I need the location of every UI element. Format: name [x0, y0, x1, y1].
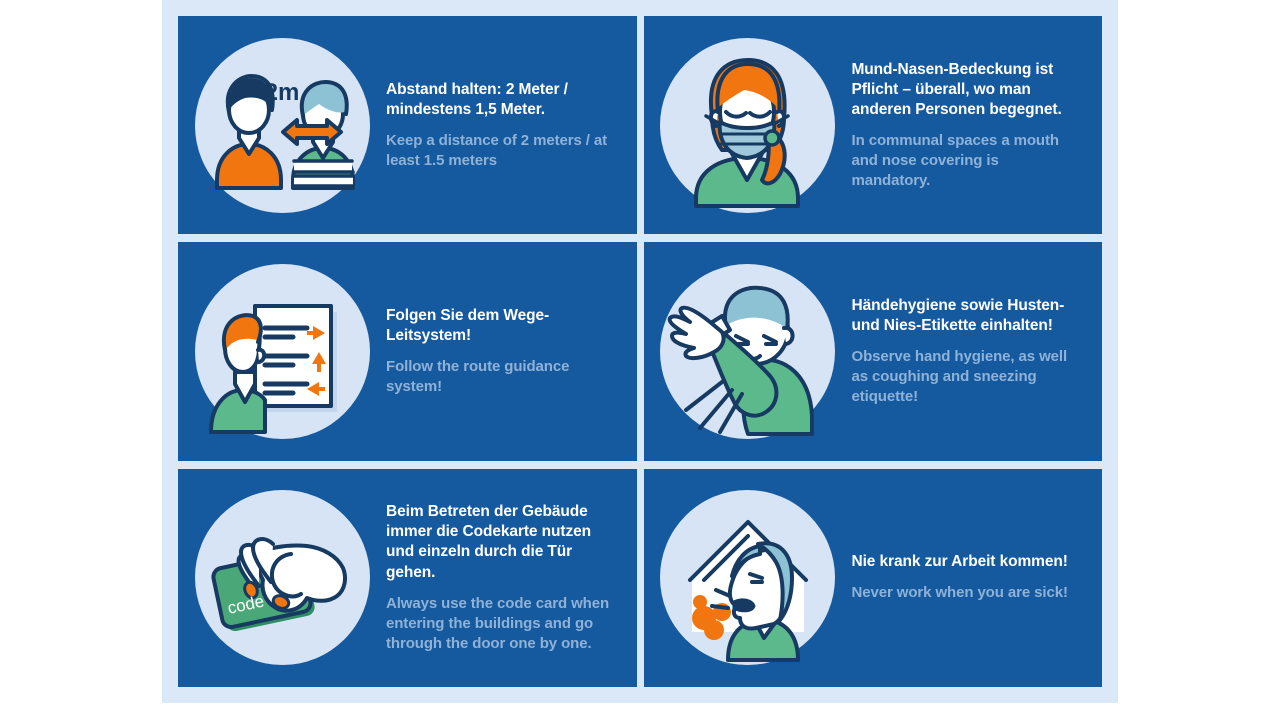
rule-copy: Abstand halten: 2 Meter / mindestens 1,5…	[386, 80, 637, 171]
person-with-signage-arrows-icon	[195, 264, 370, 439]
rule-subtitle: Follow the route guidance system!	[386, 357, 611, 397]
rule-panel-mask: Mund-Nasen-Bedeckung ist Pflicht – übera…	[644, 16, 1103, 234]
rule-title: Beim Betreten der Gebäude immer die Code…	[386, 502, 611, 583]
hand-holding-code-card-icon: code	[195, 490, 370, 665]
person-coughing-at-home-icon	[660, 490, 835, 665]
rule-panel-distance: 2m Abstand halten: 2 Meter / mindestens …	[178, 16, 637, 234]
rule-subtitle: Keep a distance of 2 meters / at least 1…	[386, 131, 611, 171]
rule-copy: Folgen Sie dem Wege-Leitsystem! Follow t…	[386, 306, 637, 397]
person-wearing-face-mask-icon	[660, 38, 835, 213]
rule-copy: Händehygiene sowie Husten- und Nies-Etik…	[852, 296, 1103, 407]
illustration-circle	[660, 490, 835, 665]
illustration-circle	[660, 264, 835, 439]
rule-copy: Beim Betreten der Gebäude immer die Code…	[386, 502, 637, 653]
rule-illustration-stay-home	[644, 469, 852, 687]
two-people-distance-icon: 2m	[195, 38, 370, 213]
rules-grid: 2m Abstand halten: 2 Meter / mindestens …	[178, 16, 1102, 687]
rule-title: Abstand halten: 2 Meter / mindestens 1,5…	[386, 80, 611, 120]
illustration-circle: code	[195, 490, 370, 665]
rule-panel-code-card: code Beim Betreten der Gebäude immer die…	[178, 469, 637, 687]
rule-illustration-code-card: code	[178, 469, 386, 687]
rule-title: Mund-Nasen-Bedeckung ist Pflicht – übera…	[852, 60, 1077, 120]
rule-panel-hand-hygiene: Händehygiene sowie Husten- und Nies-Etik…	[644, 242, 1103, 460]
rule-illustration-distance: 2m	[178, 16, 386, 234]
illustration-circle: 2m	[195, 38, 370, 213]
rule-subtitle: Observe hand hygiene, as well as coughin…	[852, 347, 1077, 407]
rule-subtitle: Never work when you are sick!	[852, 583, 1077, 603]
distance-label: 2m	[264, 79, 299, 106]
rule-panel-route-guidance: Folgen Sie dem Wege-Leitsystem! Follow t…	[178, 242, 637, 460]
illustration-circle	[660, 38, 835, 213]
rule-illustration-hand-hygiene	[644, 242, 852, 460]
sneeze-into-elbow-icon	[660, 264, 835, 439]
illustration-circle	[195, 264, 370, 439]
rule-illustration-mask	[644, 16, 852, 234]
rule-title: Händehygiene sowie Husten- und Nies-Etik…	[852, 296, 1077, 336]
rule-panel-stay-home-when-sick: Nie krank zur Arbeit kommen! Never work …	[644, 469, 1103, 687]
rule-copy: Nie krank zur Arbeit kommen! Never work …	[852, 552, 1103, 603]
rule-illustration-route-guidance	[178, 242, 386, 460]
rule-title: Folgen Sie dem Wege-Leitsystem!	[386, 306, 611, 346]
infographic-stage: 2m Abstand halten: 2 Meter / mindestens …	[0, 0, 1280, 708]
rule-copy: Mund-Nasen-Bedeckung ist Pflicht – übera…	[852, 60, 1103, 191]
rule-title: Nie krank zur Arbeit kommen!	[852, 552, 1077, 572]
rules-board: 2m Abstand halten: 2 Meter / mindestens …	[162, 0, 1118, 703]
rule-subtitle: Always use the code card when entering t…	[386, 594, 611, 654]
rule-subtitle: In communal spaces a mouth and nose cove…	[852, 131, 1077, 191]
